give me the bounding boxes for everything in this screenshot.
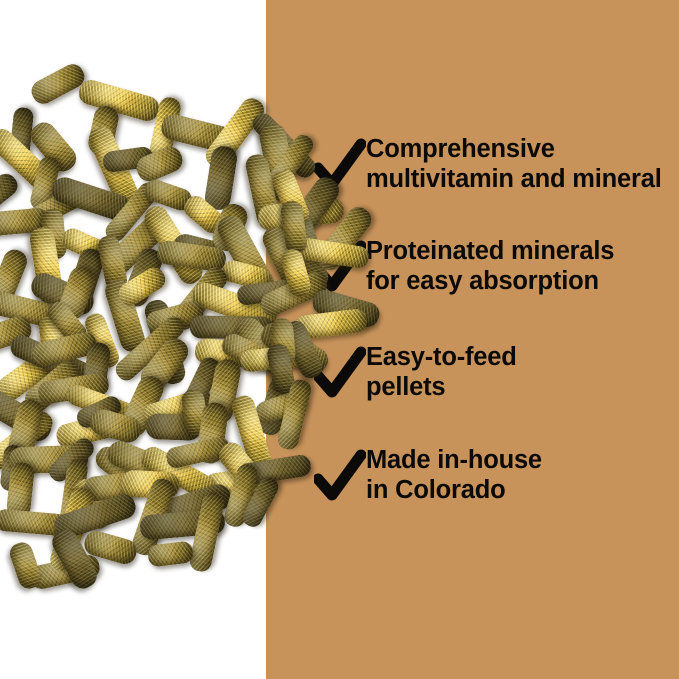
benefit-list: Comprehensive multivitamin and mineral P… [266, 0, 679, 679]
benefit-item-proteinated-minerals: Proteinated minerals for easy absorption [314, 234, 679, 296]
benefit-item-easy-to-feed-pellets: Easy-to-feed pellets [314, 340, 679, 402]
benefit-item-label: Easy-to-feed pellets [366, 340, 679, 402]
benefits-panel: Comprehensive multivitamin and mineral P… [266, 0, 679, 679]
benefit-item-label: Made in-house in Colorado [366, 443, 679, 505]
benefit-item-comprehensive-multivitamin: Comprehensive multivitamin and mineral [314, 132, 679, 194]
checkmark-icon [314, 449, 366, 505]
feed-pellet [76, 77, 162, 124]
benefit-item-label: Comprehensive multivitamin and mineral [366, 132, 679, 194]
feed-pellet [147, 540, 194, 567]
feed-pellet [28, 60, 89, 107]
benefit-item-made-in-house-colorado: Made in-house in Colorado [314, 443, 679, 505]
benefit-item-label: Proteinated minerals for easy absorption [366, 234, 679, 296]
product-feature-graphic: Comprehensive multivitamin and mineral P… [0, 0, 679, 679]
product-photo-panel [0, 0, 266, 679]
